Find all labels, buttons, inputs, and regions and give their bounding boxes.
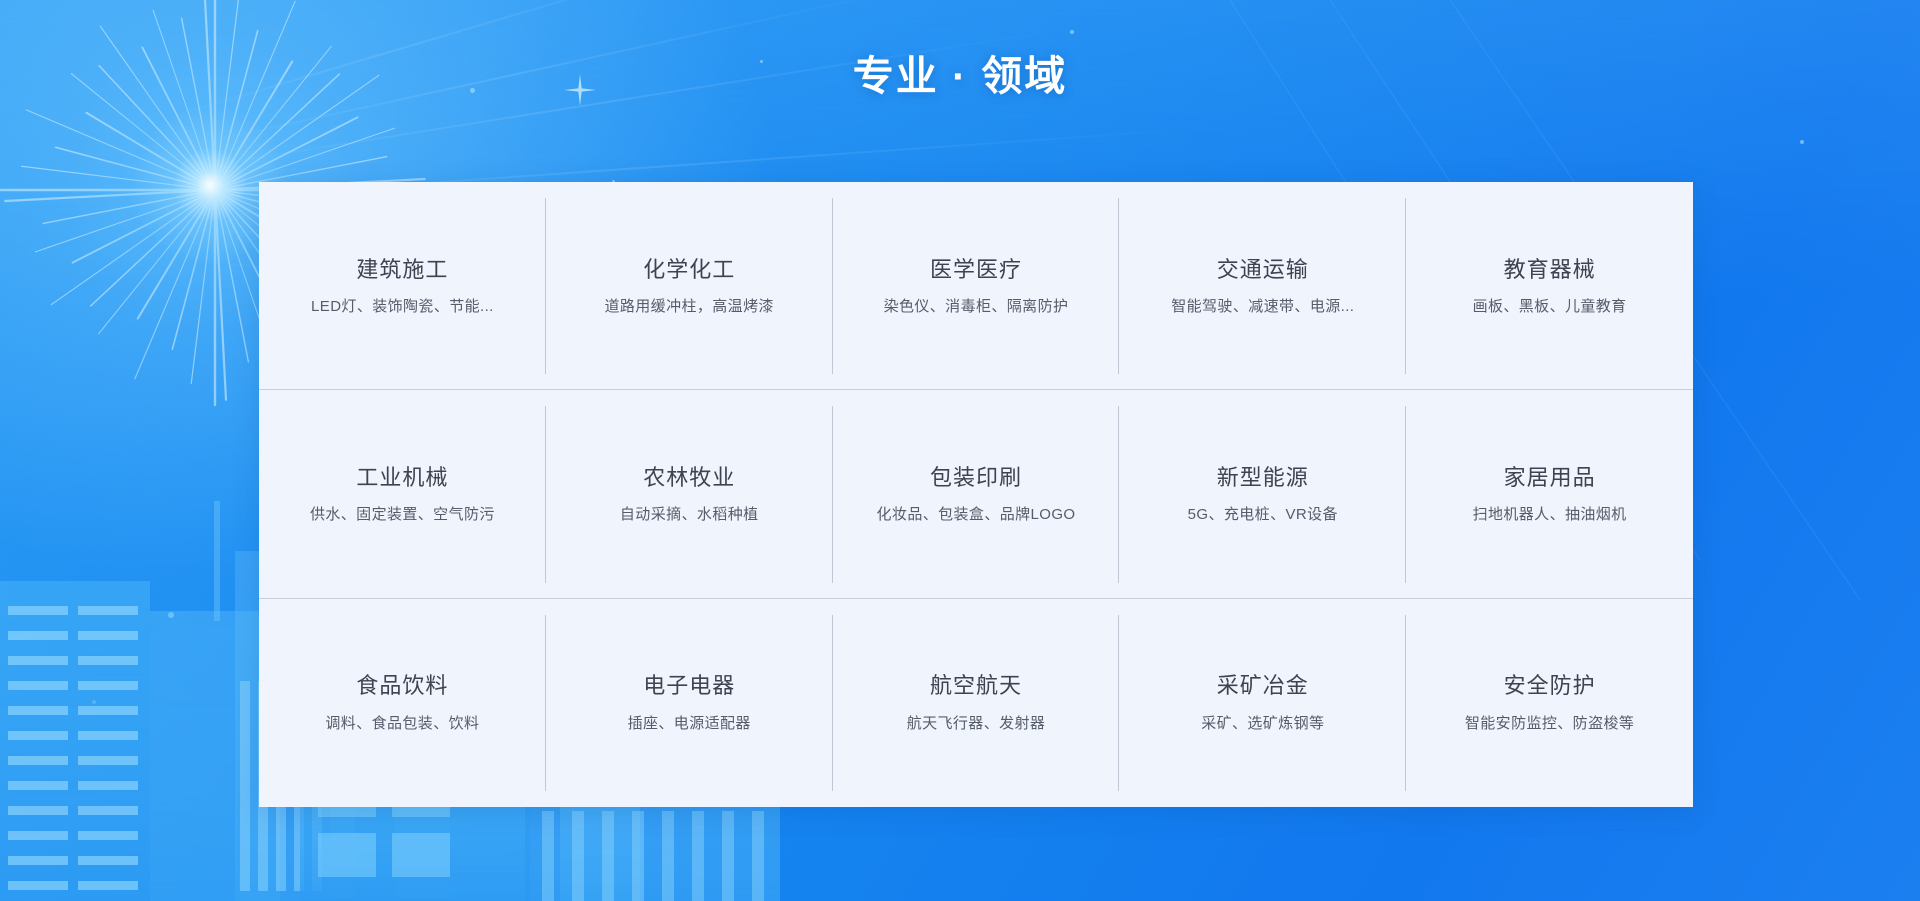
- domain-card[interactable]: 建筑施工 LED灯、装饰陶瓷、节能...: [259, 182, 546, 390]
- sparkle-dot: [168, 612, 174, 618]
- sparkle-dot: [1800, 140, 1804, 144]
- domain-card-desc: 扫地机器人、抽油烟机: [1473, 505, 1627, 525]
- domain-card-title: 食品饮料: [356, 672, 448, 700]
- domain-card-title: 化学化工: [643, 256, 735, 284]
- domain-grid: 建筑施工 LED灯、装饰陶瓷、节能... 化学化工 道路用缓冲柱，高温烤漆 医学…: [259, 182, 1693, 807]
- domain-card-desc: 化妆品、包装盒、品牌LOGO: [877, 505, 1076, 525]
- sparkle-dot: [92, 700, 96, 704]
- domain-card-desc: 染色仪、消毒柜、隔离防护: [884, 297, 1069, 317]
- sparkle-dot: [1070, 30, 1074, 34]
- domain-card-desc: LED灯、装饰陶瓷、节能...: [311, 297, 494, 317]
- page-title: 专业 · 领域: [0, 42, 1920, 102]
- domain-card-title: 航空航天: [930, 672, 1022, 700]
- domain-card[interactable]: 食品饮料 调料、食品包装、饮料: [259, 599, 546, 807]
- domain-card-title: 安全防护: [1504, 672, 1596, 700]
- domain-card[interactable]: 农林牧业 自动采摘、水稻种植: [546, 390, 833, 598]
- domain-card[interactable]: 教育器械 画板、黑板、儿童教育: [1406, 182, 1693, 390]
- domain-card-title: 交通运输: [1217, 256, 1309, 284]
- domain-card-title: 建筑施工: [356, 256, 448, 284]
- domain-card-title: 农林牧业: [643, 464, 735, 492]
- domain-card-desc: 自动采摘、水稻种植: [620, 505, 759, 525]
- domain-card[interactable]: 安全防护 智能安防监控、防盗梭等: [1406, 599, 1693, 807]
- domain-card-desc: 智能驾驶、减速带、电源...: [1171, 297, 1354, 317]
- domain-card-desc: 调料、食品包装、饮料: [325, 714, 479, 734]
- domain-card-title: 电子电器: [643, 672, 735, 700]
- domain-card[interactable]: 家居用品 扫地机器人、抽油烟机: [1406, 390, 1693, 598]
- domain-card[interactable]: 新型能源 5G、充电桩、VR设备: [1119, 390, 1406, 598]
- domain-card-title: 新型能源: [1217, 464, 1309, 492]
- domain-card-desc: 采矿、选矿炼钢等: [1201, 714, 1324, 734]
- domain-card-title: 教育器械: [1504, 256, 1596, 284]
- domain-card[interactable]: 化学化工 道路用缓冲柱，高温烤漆: [546, 182, 833, 390]
- domain-card-desc: 画板、黑板、儿童教育: [1473, 297, 1627, 317]
- domain-card[interactable]: 交通运输 智能驾驶、减速带、电源...: [1119, 182, 1406, 390]
- domain-card-desc: 道路用缓冲柱，高温烤漆: [604, 297, 773, 317]
- domain-card-desc: 5G、充电桩、VR设备: [1188, 505, 1338, 525]
- domain-card-desc: 供水、固定装置、空气防污: [310, 505, 495, 525]
- domain-card[interactable]: 航空航天 航天飞行器、发射器: [833, 599, 1120, 807]
- domain-card-desc: 智能安防监控、防盗梭等: [1465, 714, 1634, 734]
- domain-card[interactable]: 工业机械 供水、固定装置、空气防污: [259, 390, 546, 598]
- domain-card[interactable]: 包装印刷 化妆品、包装盒、品牌LOGO: [833, 390, 1120, 598]
- domain-card[interactable]: 电子电器 插座、电源适配器: [546, 599, 833, 807]
- domain-card-title: 包装印刷: [930, 464, 1022, 492]
- domain-card[interactable]: 采矿冶金 采矿、选矿炼钢等: [1119, 599, 1406, 807]
- domain-card-title: 医学医疗: [930, 256, 1022, 284]
- domain-card-title: 工业机械: [356, 464, 448, 492]
- domain-card-title: 采矿冶金: [1217, 672, 1309, 700]
- domain-card-desc: 航天飞行器、发射器: [907, 714, 1046, 734]
- domain-card-title: 家居用品: [1504, 464, 1596, 492]
- domain-card[interactable]: 医学医疗 染色仪、消毒柜、隔离防护: [833, 182, 1120, 390]
- domain-card-desc: 插座、电源适配器: [628, 714, 751, 734]
- page-root: 专业 · 领域 建筑施工 LED灯、装饰陶瓷、节能... 化学化工 道路用缓冲柱…: [0, 0, 1920, 901]
